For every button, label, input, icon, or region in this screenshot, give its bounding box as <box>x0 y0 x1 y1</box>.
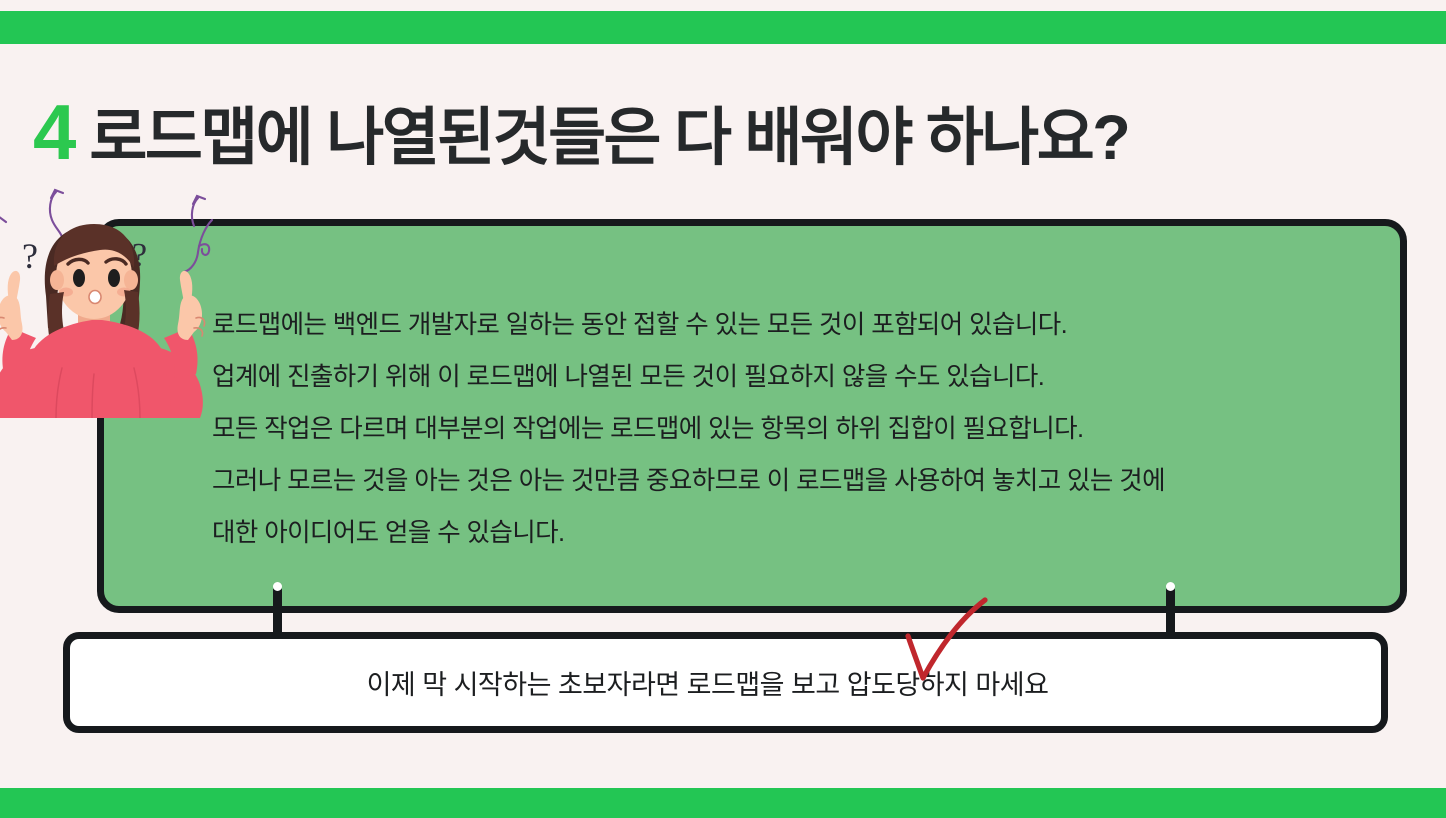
green-content-card: 로드맵에는 백엔드 개발자로 일하는 동안 접할 수 있는 모든 것이 포함되어… <box>97 219 1407 613</box>
body-line-1: 로드맵에는 백엔드 개발자로 일하는 동안 접할 수 있는 모든 것이 포함되어… <box>212 310 1402 340</box>
body-line-4: 그러나 모르는 것을 아는 것은 아는 것만큼 중요하므로 이 로드맵을 사용하… <box>212 466 1402 496</box>
confused-woman-illustration: ? ? <box>0 168 234 418</box>
section-number: 4 <box>33 93 75 171</box>
svg-text:?: ? <box>22 236 38 276</box>
body-line-5: 대한 아이디어도 얻을 수 있습니다. <box>212 518 1402 548</box>
page-title: 4 로드맵에 나열된것들은 다 배워야 하나요? <box>33 93 1128 171</box>
top-green-bar <box>0 11 1446 44</box>
bottom-green-bar <box>0 788 1446 818</box>
conclusion-text: 이제 막 시작하는 초보자라면 로드맵을 보고 압도당하지 마세요 <box>367 663 1049 702</box>
slide-canvas: 4 로드맵에 나열된것들은 다 배워야 하나요? 로드맵에는 백엔드 개발자로 … <box>0 0 1446 818</box>
body-line-3: 모든 작업은 다르며 대부분의 작업에는 로드맵에 있는 항목의 하위 집합이 … <box>212 414 1402 444</box>
white-conclusion-card: 이제 막 시작하는 초보자라면 로드맵을 보고 압도당하지 마세요 <box>63 632 1388 733</box>
green-card-body: 로드맵에는 백엔드 개발자로 일하는 동안 접할 수 있는 모든 것이 포함되어… <box>212 310 1402 548</box>
body-line-2: 업계에 진출하기 위해 이 로드맵에 나열된 모든 것이 필요하지 않을 수도 … <box>212 362 1402 392</box>
headline-text: 로드맵에 나열된것들은 다 배워야 하나요? <box>89 107 1128 170</box>
